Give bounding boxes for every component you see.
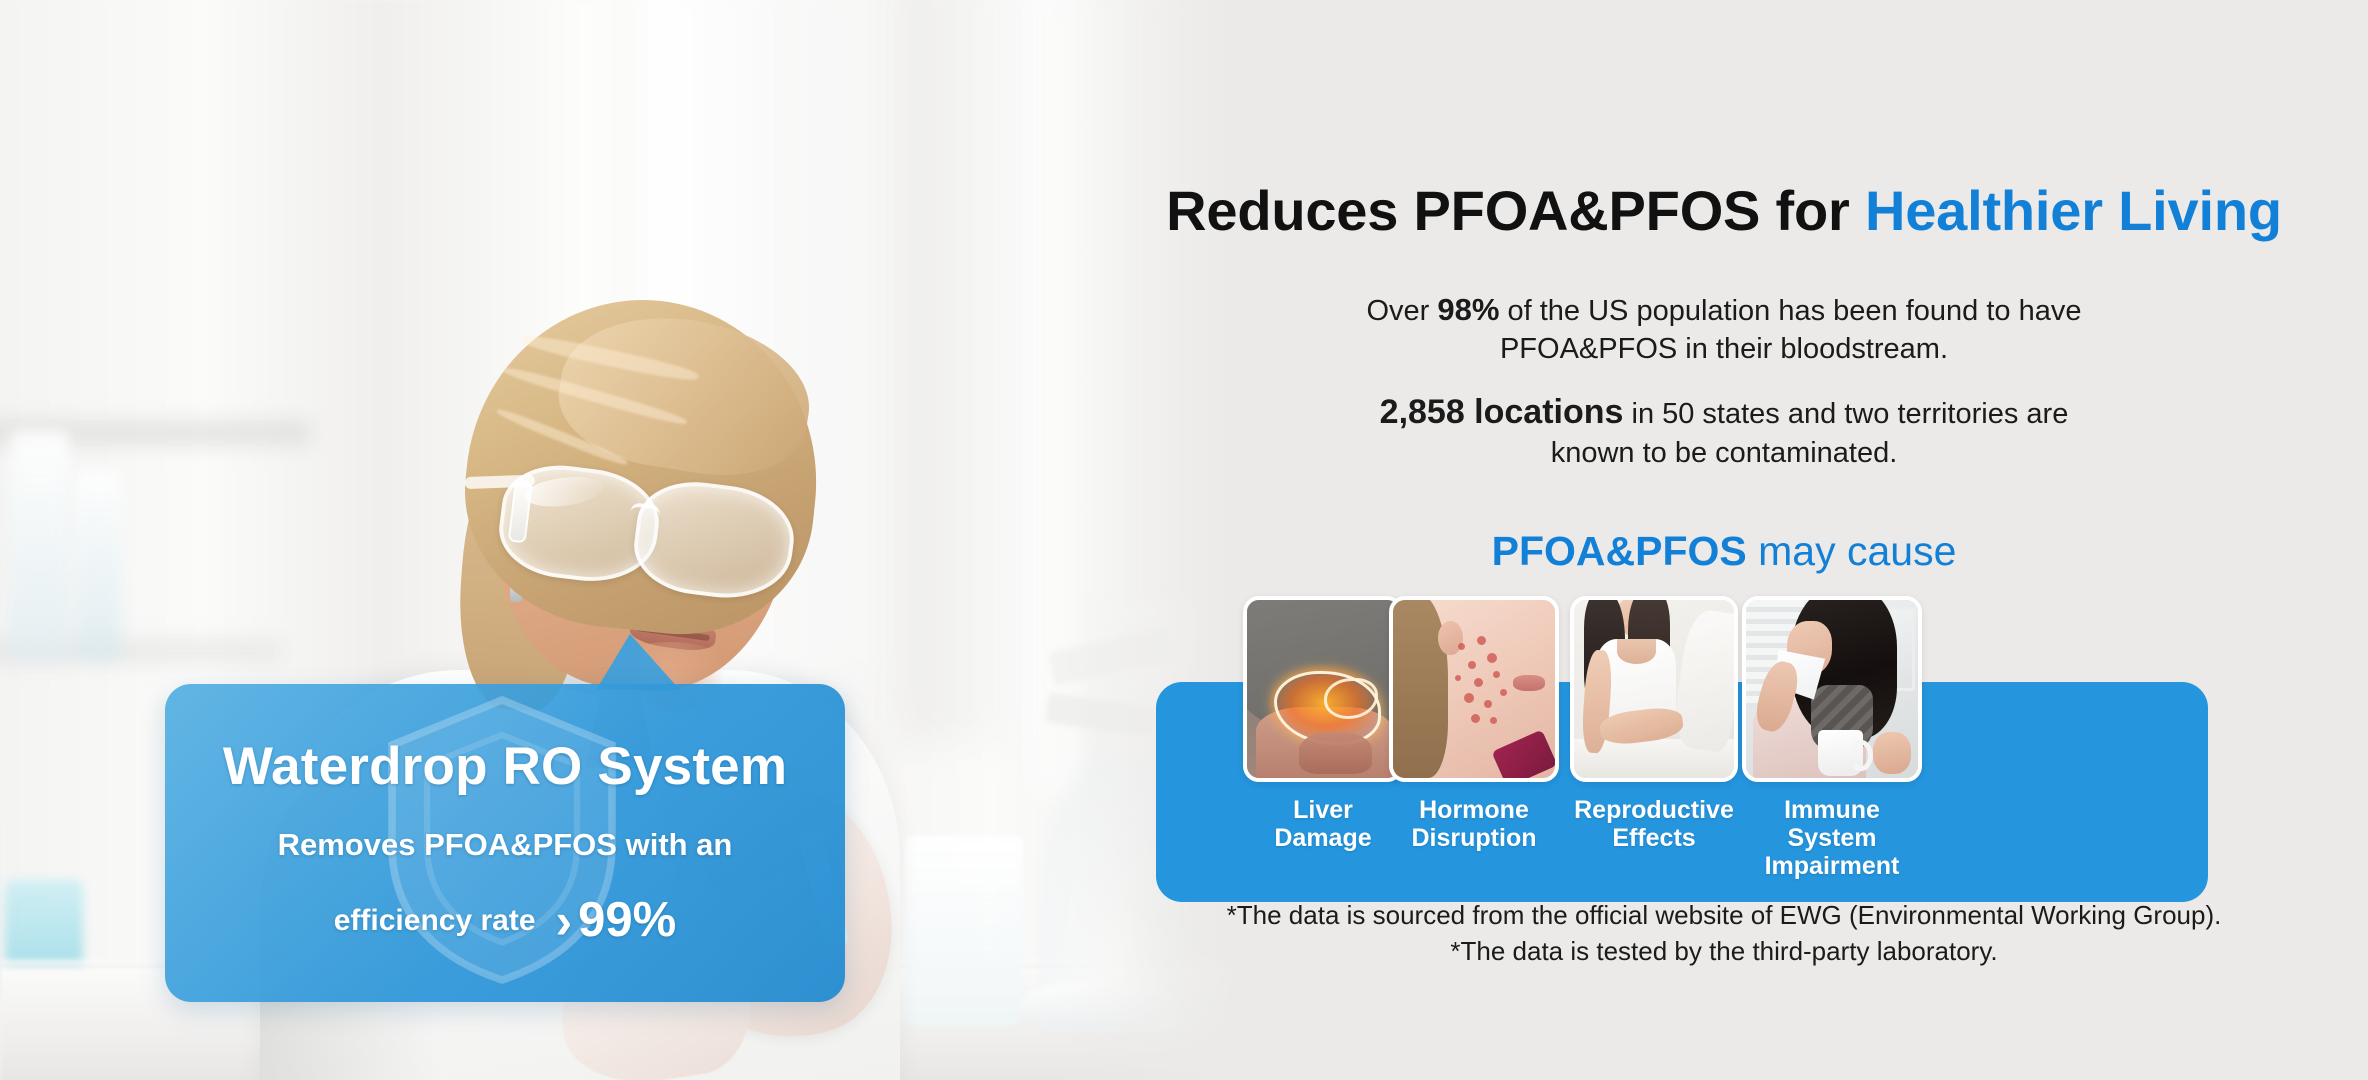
hormone-disruption-photo: [1389, 596, 1559, 782]
page-title: Reduces PFOA&PFOS for Healthier Living: [1080, 178, 2368, 243]
greater-than-icon: ›: [556, 901, 573, 941]
card-label-line2: Effects: [1570, 824, 1738, 852]
liver-artwork: [1247, 600, 1399, 778]
content-column: Reduces PFOA&PFOS for Healthier Living O…: [1080, 0, 2368, 1080]
effect-card-hormone: Hormone Disruption: [1389, 596, 1559, 852]
paragraph-line-4: known to be contaminated.: [1154, 435, 2294, 473]
background-flask-1: [10, 430, 70, 660]
stat-locations: 2,858 locations: [1380, 393, 1624, 431]
section-heading-rest: may cause: [1747, 528, 1957, 574]
stat-suffix: of the US population has been found to h…: [1499, 295, 2081, 327]
bubble-efficiency-row: efficiency rate › 99%: [334, 896, 677, 945]
reproductive-effects-photo: [1570, 596, 1738, 782]
effect-card-label: Hormone Disruption: [1389, 796, 1559, 852]
background-flask-2: [75, 470, 121, 660]
card-label-line2: Disruption: [1389, 824, 1559, 852]
stat-prefix: Over: [1366, 295, 1437, 327]
goggle-lens-right: [629, 475, 799, 605]
paragraph-line-1: Over 98% of the US population has been f…: [1154, 290, 2294, 331]
card-label-line2: Damage: [1243, 824, 1403, 852]
section-heading: PFOA&PFOS may cause: [1080, 528, 2368, 575]
effect-card-reproductive: Reproductive Effects: [1570, 596, 1738, 852]
effect-card-immune: Immune System Impairment: [1742, 596, 1922, 880]
efficiency-label: efficiency rate: [334, 906, 536, 936]
locations-suffix: in 50 states and two territories are: [1623, 398, 2068, 430]
effect-card-label: Reproductive Effects: [1570, 796, 1738, 852]
card-label-line1: Reproductive: [1570, 796, 1738, 824]
footnote-line-1: *The data is sourced from the official w…: [1120, 898, 2328, 934]
effect-card-liver: Liver Damage: [1243, 596, 1403, 852]
acne-artwork: [1393, 600, 1555, 778]
reproductive-artwork: [1574, 600, 1734, 778]
footnote-line-2: *The data is tested by the third-party l…: [1120, 934, 2328, 970]
liver-damage-photo: [1243, 596, 1403, 782]
effects-card-list: Liver Damage: [1080, 596, 2368, 896]
goggle-bridge: [628, 502, 661, 529]
section-heading-bold: PFOA&PFOS: [1492, 528, 1747, 574]
paragraph-line-2: PFOA&PFOS in their bloodstream.: [1154, 331, 2294, 369]
stat-98-percent: 98%: [1437, 292, 1499, 327]
immune-impairment-photo: [1742, 596, 1922, 782]
headline-accent: Healthier Living: [1865, 179, 2282, 242]
footnotes: *The data is sourced from the official w…: [1120, 898, 2328, 970]
bubble-subtitle: Removes PFOA&PFOS with an: [278, 829, 733, 860]
paragraph-line-3: 2,858 locations in 50 states and two ter…: [1154, 390, 2294, 434]
immune-artwork: [1746, 600, 1918, 778]
card-label-line1: Liver: [1243, 796, 1403, 824]
waterdrop-callout-bubble: Waterdrop RO System Removes PFOA&PFOS wi…: [165, 684, 845, 1002]
efficiency-value: 99%: [578, 896, 676, 945]
bubble-title: Waterdrop RO System: [223, 740, 787, 793]
speech-bubble-tail: [596, 634, 688, 690]
card-label-line1: Immune System: [1742, 796, 1922, 852]
intro-paragraph: Over 98% of the US population has been f…: [1154, 290, 2294, 472]
card-label-line1: Hormone: [1389, 796, 1559, 824]
banner-root: Waterdrop RO System Removes PFOA&PFOS wi…: [0, 0, 2368, 1080]
headline-part1: Reduces PFOA&PFOS for: [1166, 179, 1865, 242]
effect-card-label: Liver Damage: [1243, 796, 1403, 852]
effect-card-label: Immune System Impairment: [1742, 796, 1922, 880]
card-label-line2: Impairment: [1742, 852, 1922, 880]
